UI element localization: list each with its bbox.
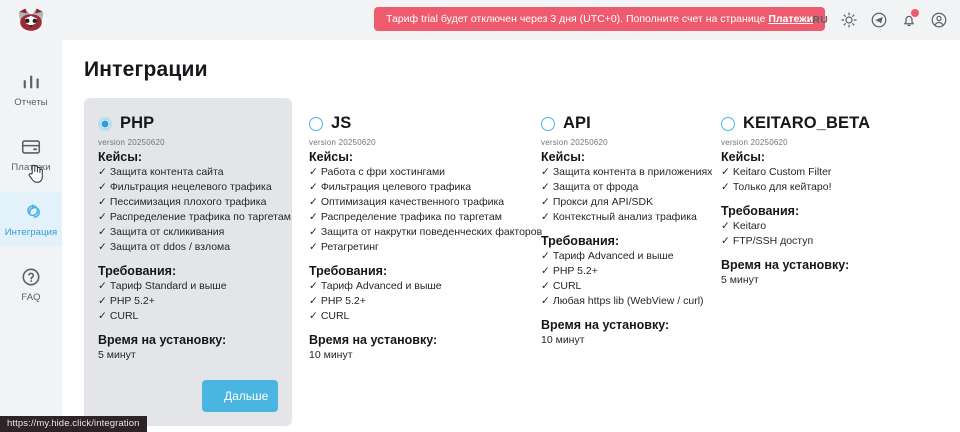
case-item: ✓Распределение трафика по таргетам — [309, 210, 513, 225]
requirement-text: FTP/SSH доступ — [733, 235, 813, 247]
notification-dot — [911, 9, 919, 17]
install-time-value: 5 минут — [98, 348, 278, 363]
requirement-text: Тариф Advanced и выше — [321, 280, 442, 292]
integration-card-php[interactable]: PHP version 20250620 Кейсы: ✓Защита конт… — [84, 98, 292, 426]
case-text: Фильтрация нецелевого трафика — [110, 181, 272, 193]
card-version: version 20250620 — [98, 138, 278, 147]
logo-container[interactable] — [0, 0, 62, 40]
radio-keitaro[interactable] — [721, 117, 735, 131]
requirement-text: Тариф Standard и выше — [110, 280, 227, 292]
sun-icon[interactable] — [840, 11, 858, 29]
account-icon[interactable] — [930, 11, 948, 29]
page-content: Интеграции PHP version 20250620 Кейсы: ✓… — [62, 40, 960, 426]
topbar: Тариф trial будет отключен через 3 дня (… — [62, 0, 960, 40]
requirement-text: CURL — [110, 310, 139, 322]
sidebar-item-faq[interactable]: FAQ — [0, 257, 62, 311]
card-version: version 20250620 — [721, 138, 938, 147]
banner-text: Тариф trial будет отключен через 3 дня (… — [386, 13, 768, 25]
case-item: ✓Защита от накрутки поведенческих фактор… — [309, 225, 513, 240]
requirements-heading: Требования: — [98, 264, 278, 278]
install-time-heading: Время на установку: — [309, 333, 513, 347]
card-version: version 20250620 — [309, 138, 513, 147]
sidebar-item-platezhi[interactable]: Платежи — [0, 127, 62, 181]
case-text: Контекстный анализ трафика — [553, 211, 697, 223]
case-item: ✓Защита контента сайта — [98, 165, 278, 180]
sidebar-item-label: Интеграция — [5, 227, 58, 238]
raccoon-logo — [14, 6, 48, 34]
requirement-text: PHP 5.2+ — [553, 265, 598, 277]
notifications-button[interactable] — [900, 11, 918, 29]
requirement-item: ✓CURL — [98, 309, 278, 324]
requirements-heading: Требования: — [721, 204, 938, 218]
case-item: ✓Защита от ddos / взлома — [98, 240, 278, 255]
case-item: ✓Защита от фрода — [541, 180, 693, 195]
case-text: Keitaro Custom Filter — [733, 166, 832, 178]
cases-heading: Кейсы: — [541, 150, 693, 164]
case-text: Ретагретинг — [321, 241, 379, 253]
case-item: ✓Работа с фри хостингами — [309, 165, 513, 180]
sidebar-item-label: Платежи — [11, 162, 50, 173]
topbar-actions: RU — [812, 0, 948, 40]
install-time-value: 10 минут — [309, 348, 513, 363]
case-text: Распределение трафика по таргетам — [321, 211, 502, 223]
sidebar-item-integraciya[interactable]: Интеграция — [0, 192, 62, 246]
requirement-text: CURL — [321, 310, 350, 322]
case-text: Защита от фрода — [553, 181, 639, 193]
requirement-text: Keitaro — [733, 220, 766, 232]
case-text: Фильтрация целевого трафика — [321, 181, 471, 193]
case-text: Защита от ddos / взлома — [110, 241, 230, 253]
sidebar-item-label: FAQ — [21, 292, 40, 303]
case-text: Защита от скликивания — [110, 226, 225, 238]
requirement-text: CURL — [553, 280, 582, 292]
requirement-item: ✓FTP/SSH доступ — [721, 234, 938, 249]
install-time-heading: Время на установку: — [98, 333, 278, 347]
requirement-item: ✓Тариф Standard и выше — [98, 279, 278, 294]
card-header: JS — [309, 114, 513, 133]
sidebar: Отчеты Платежи Интеграция — [0, 0, 62, 432]
card-header: PHP — [98, 114, 278, 133]
card-version: version 20250620 — [541, 138, 693, 147]
case-item: ✓Прокси для API/SDK — [541, 195, 693, 210]
case-text: Пессимизация плохого трафика — [110, 196, 267, 208]
requirement-item: ✓Любая https lib (WebView / curl) — [541, 294, 693, 309]
case-item: ✓Распределение трафика по таргетам — [98, 210, 278, 225]
requirement-text: Любая https lib (WebView / curl) — [553, 295, 704, 307]
card-title: JS — [331, 114, 351, 133]
case-text: Защита контента в приложениях — [553, 166, 713, 178]
next-button[interactable]: Дальше — [202, 380, 278, 412]
cases-heading: Кейсы: — [98, 150, 278, 164]
requirement-text: Тариф Advanced и выше — [553, 250, 674, 262]
card-title: API — [563, 114, 591, 133]
install-time-heading: Время на установку: — [721, 258, 938, 272]
sidebar-nav: Отчеты Платежи Интеграция — [0, 62, 62, 322]
radio-api[interactable] — [541, 117, 555, 131]
radio-js[interactable] — [309, 117, 323, 131]
requirement-item: ✓PHP 5.2+ — [541, 264, 693, 279]
requirement-item: ✓PHP 5.2+ — [98, 294, 278, 309]
case-item: ✓Защита от скликивания — [98, 225, 278, 240]
case-text: Работа с фри хостингами — [321, 166, 445, 178]
case-text: Защита от накрутки поведенческих факторо… — [321, 226, 542, 238]
case-text: Распределение трафика по таргетам — [110, 211, 291, 223]
case-item: ✓Оптимизация качественного трафика — [309, 195, 513, 210]
case-text: Только для кейтаро! — [733, 181, 832, 193]
case-item: ✓Только для кейтаро! — [721, 180, 938, 195]
integration-card-js[interactable]: JS version 20250620 Кейсы: ✓Работа с фри… — [295, 98, 527, 377]
requirement-item: ✓Keitaro — [721, 219, 938, 234]
integration-card-keitaro[interactable]: KEITARO_BETA version 20250620 Кейсы: ✓Ke… — [707, 98, 952, 302]
case-item: ✓Фильтрация нецелевого трафика — [98, 180, 278, 195]
integration-cards: PHP version 20250620 Кейсы: ✓Защита конт… — [84, 98, 960, 426]
banner-payments-link[interactable]: Платежи — [768, 13, 813, 25]
card-header: API — [541, 114, 693, 133]
install-time-heading: Время на установку: — [541, 318, 693, 332]
question-circle-icon — [20, 266, 42, 288]
integration-icon — [20, 201, 42, 223]
requirements-heading: Требования: — [309, 264, 513, 278]
requirement-item: ✓PHP 5.2+ — [309, 294, 513, 309]
case-item: ✓Keitaro Custom Filter — [721, 165, 938, 180]
bar-chart-icon — [20, 71, 42, 93]
card-title: PHP — [120, 114, 154, 133]
sidebar-item-label: Отчеты — [14, 97, 47, 108]
card-icon — [20, 136, 42, 158]
case-item: ✓Пессимизация плохого трафика — [98, 195, 278, 210]
language-selector[interactable]: RU — [812, 14, 828, 26]
integration-card-api[interactable]: API version 20250620 Кейсы: ✓Защита конт… — [527, 98, 707, 362]
card-header: KEITARO_BETA — [721, 114, 938, 133]
case-text: Прокси для API/SDK — [553, 196, 653, 208]
requirements-heading: Требования: — [541, 234, 693, 248]
cases-heading: Кейсы: — [721, 150, 938, 164]
app-root: Отчеты Платежи Интеграция — [0, 0, 960, 432]
card-title: KEITARO_BETA — [743, 114, 870, 133]
cases-heading: Кейсы: — [309, 150, 513, 164]
main-area: Тариф trial будет отключен через 3 дня (… — [62, 0, 960, 432]
case-text: Защита контента сайта — [110, 166, 224, 178]
sidebar-item-otchety[interactable]: Отчеты — [0, 62, 62, 116]
case-item: ✓Контекстный анализ трафика — [541, 210, 693, 225]
case-item: ✓Защита контента в приложениях — [541, 165, 693, 180]
radio-php[interactable] — [98, 117, 112, 131]
requirement-item: ✓CURL — [541, 279, 693, 294]
install-time-value: 10 минут — [541, 333, 693, 348]
case-item: ✓Ретагретинг — [309, 240, 513, 255]
case-text: Оптимизация качественного трафика — [321, 196, 504, 208]
trial-warning-banner[interactable]: Тариф trial будет отключен через 3 дня (… — [374, 7, 825, 31]
install-time-value: 5 минут — [721, 273, 938, 288]
requirement-item: ✓Тариф Advanced и выше — [309, 279, 513, 294]
case-item: ✓Фильтрация целевого трафика — [309, 180, 513, 195]
telegram-icon[interactable] — [870, 11, 888, 29]
status-bar-url: https://my.hide.click/integration — [0, 416, 147, 432]
requirement-text: PHP 5.2+ — [110, 295, 155, 307]
page-title: Интеграции — [84, 58, 960, 82]
requirement-text: PHP 5.2+ — [321, 295, 366, 307]
requirement-item: ✓CURL — [309, 309, 513, 324]
requirement-item: ✓Тариф Advanced и выше — [541, 249, 693, 264]
